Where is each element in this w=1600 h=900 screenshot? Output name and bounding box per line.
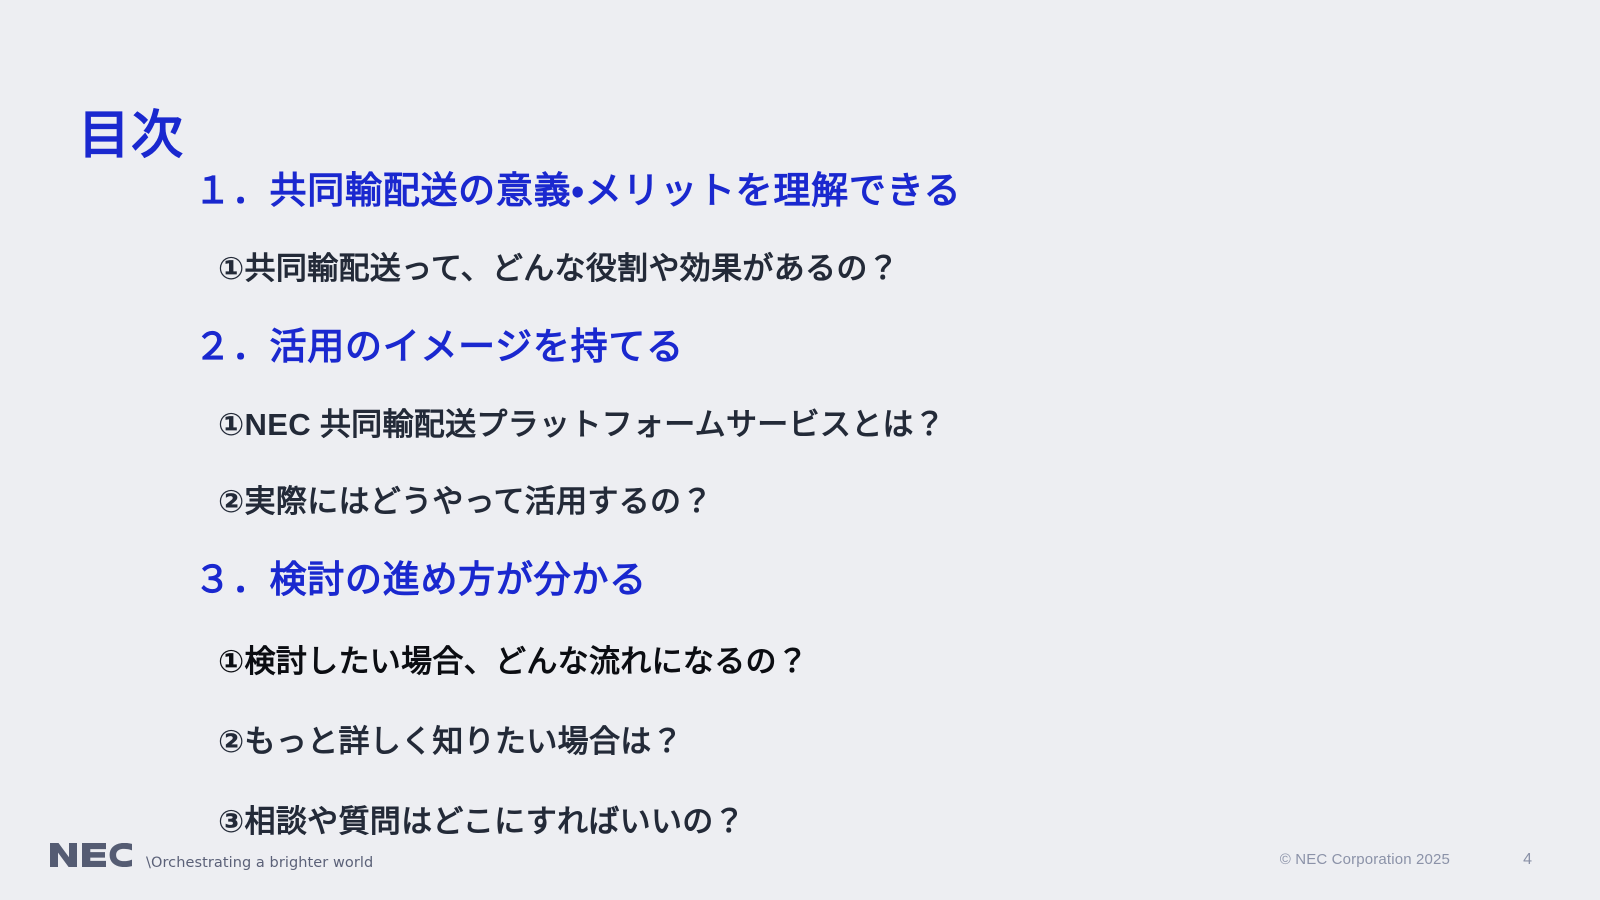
spacer	[194, 677, 1394, 726]
agenda-heading-3: ３．検討の進め方が分かる	[194, 561, 1394, 598]
slide-footer: \Orchestrating a brighter world © NEC Co…	[0, 830, 1600, 900]
brand-block: \Orchestrating a brighter world	[50, 843, 373, 872]
agenda-subitem-3-2: ②もっと詳しく知りたい場合は？	[194, 726, 1394, 757]
agenda-group-2: ２．活用のイメージを持てる ①NEC 共同輸配送プラットフォームサービスとは？ …	[194, 328, 1394, 517]
agenda-subitem-2-1: ①NEC 共同輸配送プラットフォームサービスとは？	[194, 409, 1394, 440]
page-number: 4	[1523, 851, 1532, 869]
spacer	[194, 598, 1394, 646]
agenda-group-1: １．共同輸配送の意義・メリットを理解できる ①共同輸配送って、どんな役割や効果が…	[194, 172, 1394, 284]
spacer	[194, 757, 1394, 806]
spacer	[194, 365, 1394, 409]
agenda-subitem-2-2: ②実際にはどうやって活用するの？	[194, 486, 1394, 517]
agenda-list: １．共同輸配送の意義・メリットを理解できる ①共同輸配送って、どんな役割や効果が…	[194, 172, 1394, 837]
agenda-heading-2: ２．活用のイメージを持てる	[194, 328, 1394, 365]
agenda-subitem-3-1: ①検討したい場合、どんな流れになるの？	[194, 646, 1394, 677]
agenda-subitem-1-1: ①共同輸配送って、どんな役割や効果があるの？	[194, 253, 1394, 284]
nec-logo-icon	[50, 843, 132, 872]
spacer	[194, 209, 1394, 253]
spacer	[194, 440, 1394, 486]
slide-canvas: 目次 １．共同輸配送の意義・メリットを理解できる ①共同輸配送って、どんな役割や…	[0, 0, 1600, 900]
agenda-group-3: ３．検討の進め方が分かる ①検討したい場合、どんな流れになるの？ ②もっと詳しく…	[194, 561, 1394, 837]
copyright-text: © NEC Corporation 2025	[1280, 851, 1450, 868]
spacer	[194, 517, 1394, 561]
brand-tagline: \Orchestrating a brighter world	[146, 856, 373, 873]
spacer	[194, 284, 1394, 328]
page-title: 目次	[78, 109, 184, 164]
agenda-heading-1: １．共同輸配送の意義・メリットを理解できる	[194, 172, 1394, 209]
